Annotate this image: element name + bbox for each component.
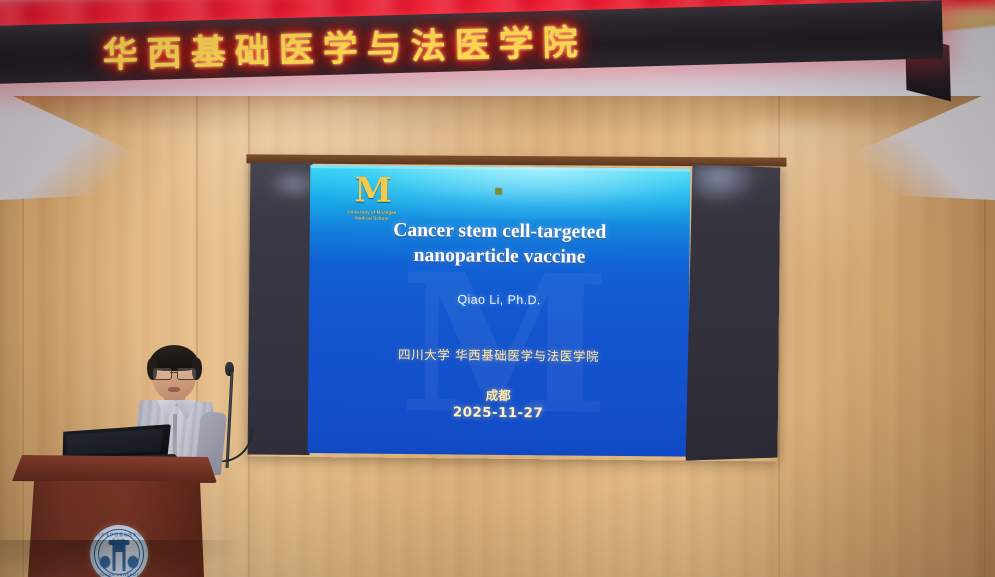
glasses-lens-right (177, 368, 196, 380)
michigan-m-icon: M (336, 173, 408, 208)
speaker-mouth (168, 387, 180, 392)
lecture-hall-photo: 华西基础医学与法医学院 M M University of Michigan M… (0, 0, 995, 577)
glasses-bridge (170, 372, 177, 373)
glasses-icon (152, 368, 196, 379)
laptop-screen (65, 429, 164, 457)
screen-dark-band-left (248, 162, 313, 455)
university-of-michigan-logo: M University of Michigan Medical School (336, 173, 408, 222)
slide-date: 2025-11-27 (308, 403, 688, 423)
podium-floor-shadow (0, 540, 240, 577)
projection-screen: M M University of Michigan Medical Schoo… (248, 160, 781, 461)
slide-affiliation: 四川大学 华西基础医学与法医学院 (309, 343, 689, 366)
slide-city: 成都 (308, 383, 688, 406)
slide-title: Cancer stem cell-targetednanoparticle va… (309, 218, 689, 272)
screen-right-specular-highlight (692, 165, 758, 206)
screen-dark-band-right (686, 165, 781, 462)
slide-author: Qiao Li, Ph.D. (309, 291, 689, 309)
podium-top-surface (12, 455, 217, 483)
presentation-slide: M M University of Michigan Medical Schoo… (308, 165, 691, 457)
led-banner-text: 华西基础医学与法医学院 (102, 13, 587, 77)
glasses-lens-left (153, 368, 172, 380)
green-square-marker (495, 188, 502, 195)
